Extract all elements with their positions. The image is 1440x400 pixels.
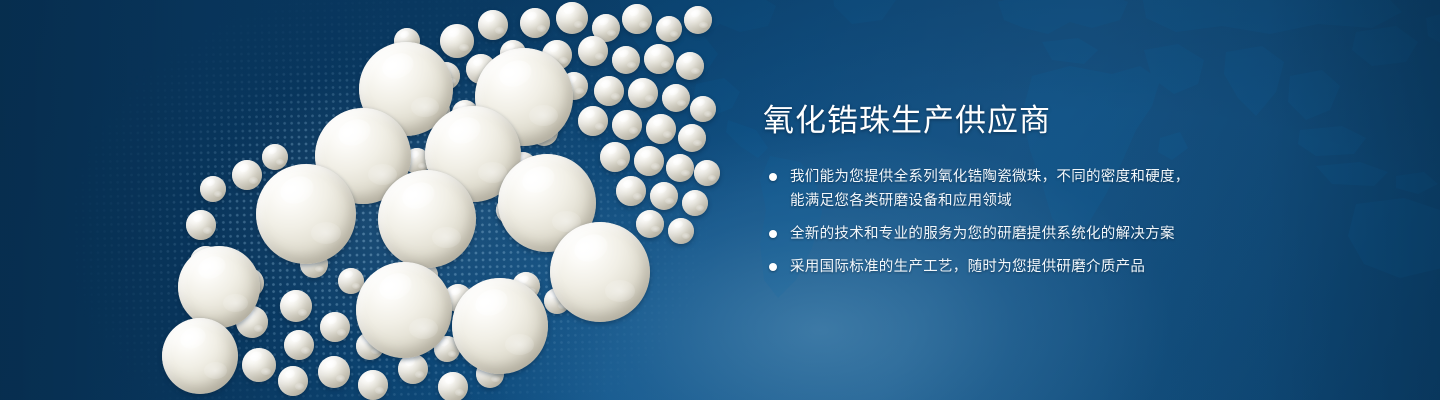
list-item-line: 全新的技术和专业的服务为您的研磨提供系统化的解决方案 (790, 222, 1363, 246)
list-item: 我们能为您提供全系列氧化锆陶瓷微珠，不同的密度和硬度， 能满足您各类研磨设备和应… (763, 165, 1363, 213)
bullet-dot-icon (769, 263, 777, 271)
hero-banner: 氧化锆珠生产供应商 我们能为您提供全系列氧化锆陶瓷微珠，不同的密度和硬度， 能满… (0, 0, 1440, 400)
list-item-line: 能满足您各类研磨设备和应用领域 (790, 189, 1363, 213)
list-item: 采用国际标准的生产工艺，随时为您提供研磨介质产品 (763, 255, 1363, 279)
bullet-dot-icon (769, 173, 777, 181)
feature-list: 我们能为您提供全系列氧化锆陶瓷微珠，不同的密度和硬度， 能满足您各类研磨设备和应… (763, 165, 1363, 279)
banner-copy: 氧化锆珠生产供应商 我们能为您提供全系列氧化锆陶瓷微珠，不同的密度和硬度， 能满… (763, 104, 1363, 279)
page-title: 氧化锆珠生产供应商 (763, 104, 1363, 139)
list-item-line: 采用国际标准的生产工艺，随时为您提供研磨介质产品 (790, 255, 1363, 279)
bullet-dot-icon (769, 230, 777, 238)
list-item-line: 我们能为您提供全系列氧化锆陶瓷微珠，不同的密度和硬度， (790, 165, 1363, 189)
list-item: 全新的技术和专业的服务为您的研磨提供系统化的解决方案 (763, 222, 1363, 246)
